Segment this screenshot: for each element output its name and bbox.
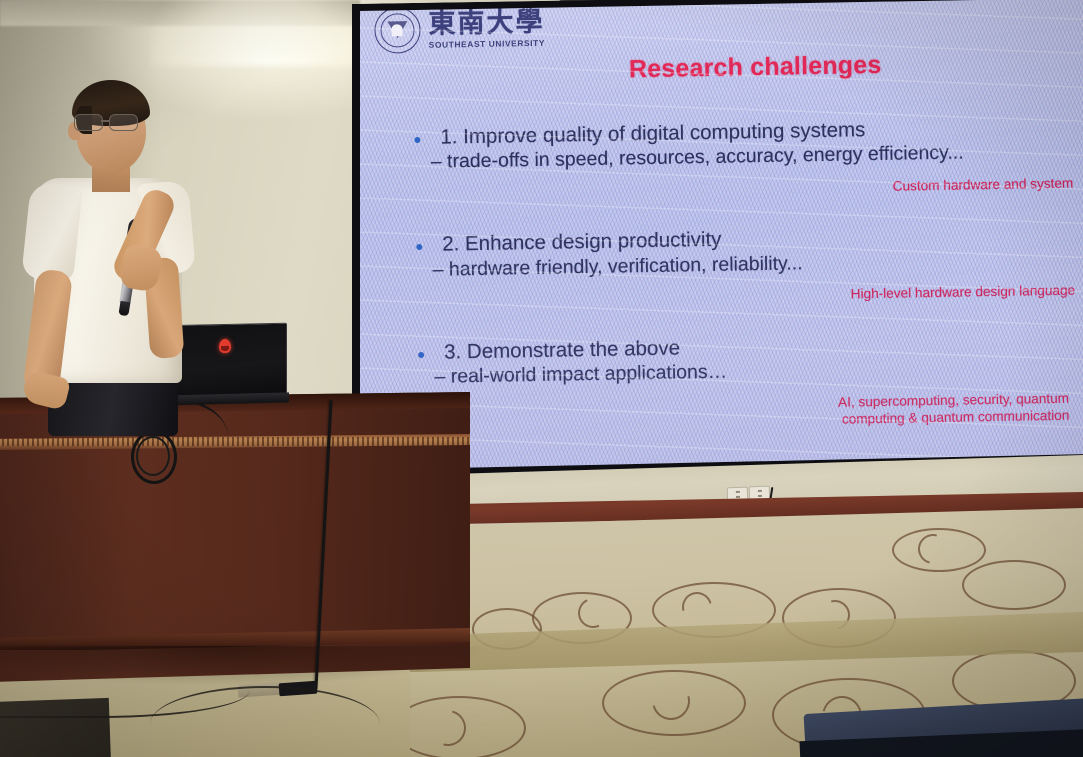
university-logo: 東南大學 SOUTHEAST UNIVERSITY: [374, 5, 545, 54]
coiled-cable-inner: [136, 436, 170, 476]
university-seal-icon: [374, 7, 421, 54]
photo-scene: 東南大學 SOUTHEAST UNIVERSITY Research chall…: [0, 0, 1083, 757]
slide-body: 1. Improve quality of digital computing …: [414, 114, 1083, 465]
bullet-dot-icon: [414, 137, 420, 143]
presenter: [0, 78, 240, 408]
bullet-block-1: 1. Improve quality of digital computing …: [414, 114, 1079, 203]
ceiling-light-glow: [150, 0, 380, 66]
bullet-annotation: High-level hardware design language: [417, 282, 1081, 311]
university-name-english: SOUTHEAST UNIVERSITY: [429, 37, 545, 49]
bullet-dot-icon: [416, 244, 422, 250]
presenter-sleeve-left: [21, 182, 83, 283]
bullet-annotation: AI, supercomputing, security, quantum co…: [419, 389, 1083, 436]
eyeglasses-icon: [74, 114, 146, 130]
bullet-annotation: Custom hardware and system: [415, 174, 1079, 203]
bullet-dot-icon: [418, 352, 424, 358]
university-name-chinese: 東南大學: [428, 8, 544, 37]
slide-title: Research challenges: [393, 47, 1083, 89]
bullet-block-2: 2. Enhance design productivity – hardwar…: [416, 222, 1081, 311]
bullet-block-3: 3. Demonstrate the above – real-world im…: [418, 329, 1083, 436]
foreground-shadow: [0, 698, 111, 757]
